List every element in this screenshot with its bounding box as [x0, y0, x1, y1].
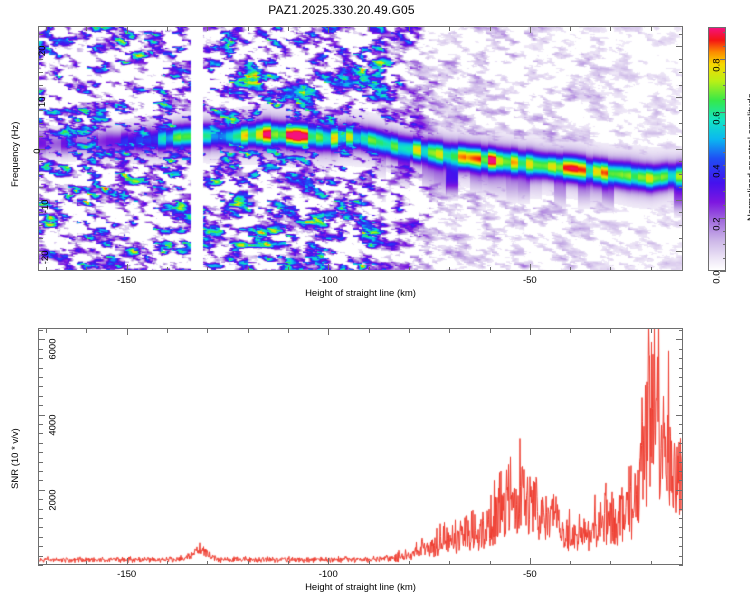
tick-mark — [127, 328, 128, 335]
colorbar-tick-08: 0.8 — [712, 58, 723, 71]
tick-mark — [570, 26, 571, 31]
tick-mark — [167, 267, 168, 272]
snr-xaxis-label: Height of straight line (km) — [291, 582, 431, 593]
page-title: PAZ1.2025.330.20.49.G05 — [0, 3, 683, 17]
tick-mark — [288, 561, 289, 566]
tick-mark — [610, 26, 611, 31]
tick-mark — [38, 358, 43, 359]
tick-mark — [207, 561, 208, 566]
tick-mark — [38, 85, 43, 86]
spectrogram-xtick-m50: -50 — [500, 275, 560, 286]
snr-xtick-m50: -50 — [500, 569, 560, 580]
tick-mark — [723, 72, 727, 73]
tick-mark — [679, 85, 684, 86]
tick-mark — [127, 558, 128, 565]
tick-mark — [369, 26, 370, 31]
tick-mark — [369, 561, 370, 566]
tick-mark — [610, 328, 611, 333]
tick-mark — [38, 556, 43, 557]
tick-mark — [651, 328, 652, 333]
tick-mark — [38, 490, 45, 491]
tick-mark — [651, 561, 652, 566]
tick-mark — [679, 123, 684, 124]
colorbar-tick-02: 0.2 — [712, 217, 723, 230]
tick-mark — [723, 178, 727, 179]
tick-mark — [369, 328, 370, 333]
tick-mark — [679, 518, 684, 519]
figure-root: PAZ1.2025.330.20.49.G05 20 10 0 -10 -20 … — [0, 0, 750, 600]
tick-mark — [207, 328, 208, 333]
tick-mark — [679, 546, 684, 547]
tick-mark — [723, 258, 727, 259]
tick-mark — [679, 565, 684, 566]
tick-mark — [676, 149, 683, 150]
tick-mark — [38, 123, 43, 124]
tick-mark — [679, 349, 684, 350]
tick-mark — [38, 330, 43, 331]
colorbar-tick-00: 0.0 — [712, 271, 723, 284]
tick-mark — [328, 264, 329, 271]
tick-mark — [38, 59, 43, 60]
tick-mark — [610, 561, 611, 566]
tick-mark — [38, 339, 45, 340]
tick-mark — [679, 161, 684, 162]
tick-mark — [679, 424, 684, 425]
snr-line-plot — [39, 329, 683, 565]
tick-mark — [679, 480, 684, 481]
spectrogram-xaxis-label: Height of straight line (km) — [291, 288, 431, 299]
snr-panel — [38, 328, 683, 565]
snr-ytick-4000: 4000 — [48, 414, 59, 435]
tick-mark — [207, 267, 208, 272]
tick-mark — [38, 238, 43, 239]
spectrogram-ytick-0: 0 — [32, 148, 43, 153]
tick-mark — [38, 187, 43, 188]
spectrogram-ytick-10: 10 — [37, 97, 48, 108]
tick-mark — [127, 264, 128, 271]
tick-mark — [490, 26, 491, 31]
tick-mark — [38, 225, 43, 226]
tick-mark — [679, 386, 684, 387]
tick-mark — [679, 330, 684, 331]
tick-mark — [676, 339, 683, 340]
tick-mark — [38, 415, 45, 416]
tick-mark — [679, 405, 684, 406]
tick-mark — [38, 546, 43, 547]
tick-mark — [38, 368, 43, 369]
tick-mark — [723, 191, 727, 192]
tick-mark — [676, 200, 683, 201]
tick-mark — [38, 537, 43, 538]
tick-mark — [676, 490, 683, 491]
tick-mark — [679, 471, 684, 472]
tick-mark — [570, 561, 571, 566]
tick-mark — [409, 267, 410, 272]
tick-mark — [723, 231, 727, 232]
colorbar-title: Normalized spectral amplitude — [746, 93, 750, 221]
tick-mark — [38, 349, 43, 350]
tick-mark — [38, 174, 43, 175]
tick-mark — [288, 267, 289, 272]
snr-yaxis-label: SNR (10 * v/v) — [10, 428, 21, 489]
spectrogram-xtick-m100: -100 — [298, 275, 358, 286]
tick-mark — [530, 26, 531, 33]
spectrogram-ytick-20: 20 — [37, 46, 48, 57]
tick-mark — [679, 34, 684, 35]
tick-mark — [676, 415, 683, 416]
tick-mark — [328, 26, 329, 33]
tick-mark — [679, 377, 684, 378]
tick-mark — [288, 26, 289, 31]
tick-mark — [86, 328, 87, 333]
tick-mark — [679, 358, 684, 359]
tick-mark — [409, 328, 410, 333]
spectrogram-image — [39, 27, 683, 271]
tick-mark — [38, 565, 43, 566]
tick-mark — [723, 138, 727, 139]
tick-mark — [449, 267, 450, 272]
tick-mark — [248, 328, 249, 333]
colorbar-tick-06: 0.6 — [712, 111, 723, 124]
tick-mark — [127, 26, 128, 33]
tick-mark — [167, 328, 168, 333]
tick-mark — [676, 251, 683, 252]
tick-mark — [46, 328, 47, 333]
tick-mark — [46, 267, 47, 272]
tick-mark — [38, 386, 43, 387]
tick-mark — [449, 561, 450, 566]
tick-mark — [167, 26, 168, 31]
tick-mark — [679, 499, 684, 500]
tick-mark — [288, 328, 289, 333]
tick-mark — [679, 174, 684, 175]
tick-mark — [723, 125, 727, 126]
tick-mark — [38, 377, 43, 378]
snr-ytick-6000: 6000 — [48, 339, 59, 360]
tick-mark — [86, 561, 87, 566]
tick-mark — [167, 561, 168, 566]
tick-mark — [248, 26, 249, 31]
tick-mark — [328, 328, 329, 335]
tick-mark — [679, 527, 684, 528]
tick-mark — [38, 34, 43, 35]
tick-mark — [46, 26, 47, 31]
tick-mark — [679, 212, 684, 213]
tick-mark — [679, 396, 684, 397]
tick-mark — [723, 46, 727, 47]
tick-mark — [86, 26, 87, 31]
spectrogram-ytick-m20: -20 — [40, 250, 51, 264]
tick-mark — [38, 443, 43, 444]
tick-mark — [676, 97, 683, 98]
tick-mark — [570, 328, 571, 333]
tick-mark — [679, 556, 684, 557]
tick-mark — [723, 205, 727, 206]
tick-mark — [38, 110, 43, 111]
tick-mark — [530, 558, 531, 565]
tick-mark — [248, 267, 249, 272]
tick-mark — [530, 264, 531, 271]
tick-mark — [490, 328, 491, 333]
tick-mark — [679, 452, 684, 453]
tick-mark — [679, 443, 684, 444]
tick-mark — [38, 136, 43, 137]
tick-mark — [449, 26, 450, 31]
tick-mark — [38, 518, 43, 519]
tick-mark — [676, 46, 683, 47]
tick-mark — [679, 537, 684, 538]
tick-mark — [38, 471, 43, 472]
colorbar-tick-04: 0.4 — [712, 164, 723, 177]
spectrogram-yaxis-label: Frequency (Hz) — [10, 121, 21, 186]
tick-mark — [679, 238, 684, 239]
snr-xtick-m100: -100 — [298, 569, 358, 580]
tick-mark — [38, 499, 43, 500]
tick-mark — [679, 462, 684, 463]
tick-mark — [86, 267, 87, 272]
tick-mark — [409, 26, 410, 31]
tick-mark — [38, 527, 43, 528]
tick-mark — [38, 509, 43, 510]
tick-mark — [723, 32, 727, 33]
tick-mark — [679, 509, 684, 510]
tick-mark — [38, 396, 43, 397]
tick-mark — [38, 424, 43, 425]
tick-mark — [490, 561, 491, 566]
tick-mark — [723, 99, 727, 100]
tick-mark — [679, 368, 684, 369]
tick-mark — [369, 267, 370, 272]
tick-mark — [679, 72, 684, 73]
tick-mark — [651, 267, 652, 272]
tick-mark — [723, 244, 727, 245]
spectrogram-panel — [38, 26, 683, 271]
tick-mark — [409, 561, 410, 566]
tick-mark — [723, 165, 727, 166]
tick-mark — [38, 462, 43, 463]
tick-mark — [723, 85, 727, 86]
spectrogram-ytick-m10: -10 — [40, 199, 51, 213]
tick-mark — [679, 225, 684, 226]
snr-ytick-2000: 2000 — [48, 489, 59, 510]
tick-mark — [679, 433, 684, 434]
tick-mark — [38, 452, 43, 453]
tick-mark — [530, 328, 531, 335]
tick-mark — [679, 110, 684, 111]
spectrogram-xtick-m150: -150 — [97, 275, 157, 286]
tick-mark — [38, 433, 43, 434]
tick-mark — [570, 267, 571, 272]
tick-mark — [679, 59, 684, 60]
tick-mark — [449, 328, 450, 333]
tick-mark — [651, 26, 652, 31]
tick-mark — [679, 187, 684, 188]
tick-mark — [490, 267, 491, 272]
tick-mark — [38, 72, 43, 73]
tick-mark — [328, 558, 329, 565]
tick-mark — [610, 267, 611, 272]
snr-xtick-m150: -150 — [97, 569, 157, 580]
tick-mark — [38, 480, 43, 481]
tick-mark — [46, 561, 47, 566]
tick-mark — [248, 561, 249, 566]
tick-mark — [679, 136, 684, 137]
tick-mark — [723, 152, 727, 153]
tick-mark — [38, 405, 43, 406]
tick-mark — [38, 161, 43, 162]
tick-mark — [207, 26, 208, 31]
